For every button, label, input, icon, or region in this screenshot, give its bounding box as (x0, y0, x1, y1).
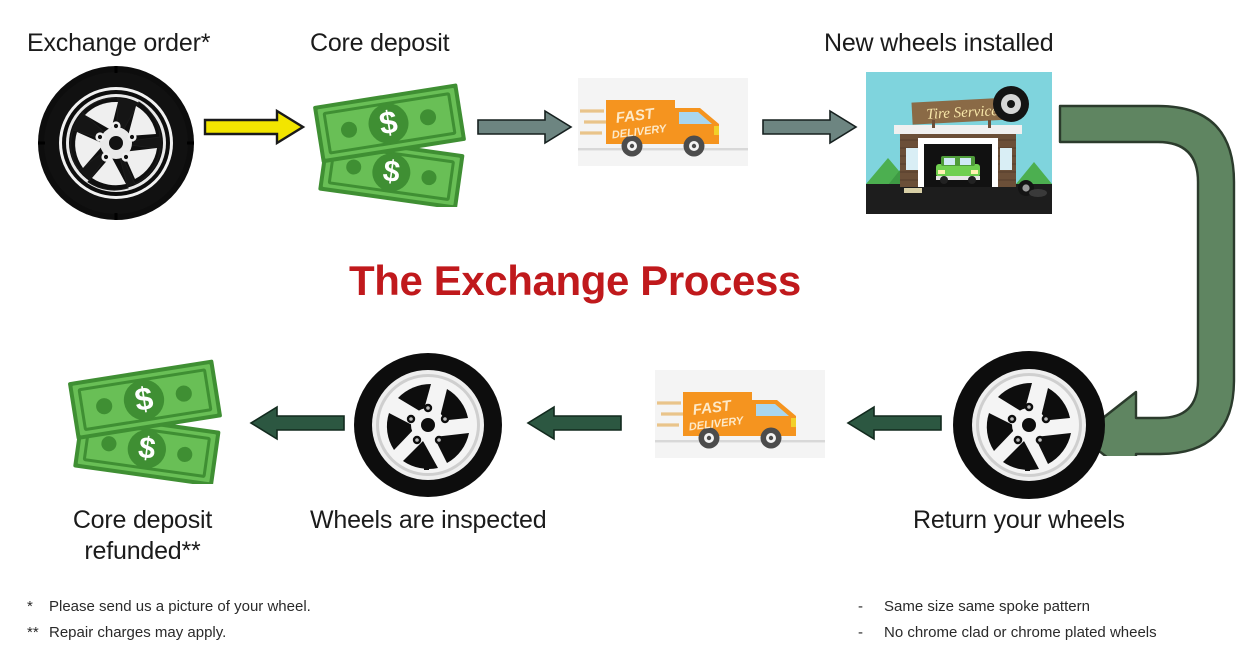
label-exchange-order: Exchange order* (27, 28, 210, 59)
money-icon: $ $ (303, 72, 483, 207)
footnote-marker: * (27, 594, 49, 620)
money-graphic-bottom: $ $ (56, 348, 241, 484)
wheel-icon (36, 64, 196, 222)
wheel-icon (952, 350, 1106, 500)
footnote-text: Please send us a picture of your wheel. (49, 598, 311, 615)
wheel-icon (353, 352, 503, 498)
arrow-order-to-deposit (203, 108, 306, 146)
arrow-left-icon (248, 405, 345, 441)
black-wheel-graphic (36, 64, 196, 222)
page-title: The Exchange Process (349, 257, 801, 305)
delivery-truck-icon: FAST DELIVERY (655, 370, 825, 458)
label-new-wheels-installed: New wheels installed (824, 28, 1053, 59)
footnote-item: -No chrome clad or chrome plated wheels (858, 620, 1157, 646)
delivery-truck-graphic-bottom: FAST DELIVERY (655, 370, 825, 458)
footnotes-left: *Please send us a picture of your wheel.… (27, 594, 311, 647)
footnote-item: **Repair charges may apply. (27, 620, 311, 646)
arrow-right-icon (477, 109, 573, 145)
footnote-marker: - (858, 594, 884, 620)
footnotes-right: -Same size same spoke pattern -No chrome… (858, 594, 1157, 647)
arrow-deposit-to-shipping (477, 109, 573, 145)
silver-wheel-graphic-inspected (353, 352, 503, 498)
delivery-truck-graphic-top: FAST DELIVERY (578, 78, 748, 166)
arrow-left-icon (525, 405, 622, 441)
arrow-inspection-to-refund (248, 405, 345, 441)
money-icon: $ $ (56, 348, 241, 484)
arrow-shipping-to-inspection (525, 405, 622, 441)
silver-wheel-graphic-return (952, 350, 1106, 500)
money-graphic-top: $ $ (303, 72, 483, 207)
footnote-text: Repair charges may apply. (49, 624, 226, 641)
label-core-deposit-refunded: Core deposit refunded** (35, 505, 250, 566)
footnote-marker: - (858, 620, 884, 646)
arrow-right-icon (762, 109, 858, 145)
delivery-truck-icon: FAST DELIVERY (578, 78, 748, 166)
footnote-text: No chrome clad or chrome plated wheels (884, 624, 1157, 641)
footnote-marker: ** (27, 620, 49, 646)
arrow-return-to-shipping (845, 405, 942, 441)
exchange-process-infographic: Exchange order* Core deposit New wheels … (0, 0, 1250, 666)
tire-service-shop-graphic: Tire Service (866, 72, 1052, 214)
label-wheels-are-inspected: Wheels are inspected (310, 505, 546, 536)
label-return-your-wheels: Return your wheels (913, 505, 1125, 536)
footnote-text: Same size same spoke pattern (884, 598, 1090, 615)
tire-shop-icon: Tire Service (866, 72, 1052, 214)
arrow-right-icon (203, 108, 306, 146)
arrow-shipping-to-install (762, 109, 858, 145)
arrow-left-icon (845, 405, 942, 441)
footnote-item: -Same size same spoke pattern (858, 594, 1157, 620)
footnote-item: *Please send us a picture of your wheel. (27, 594, 311, 620)
label-core-deposit: Core deposit (310, 28, 449, 59)
